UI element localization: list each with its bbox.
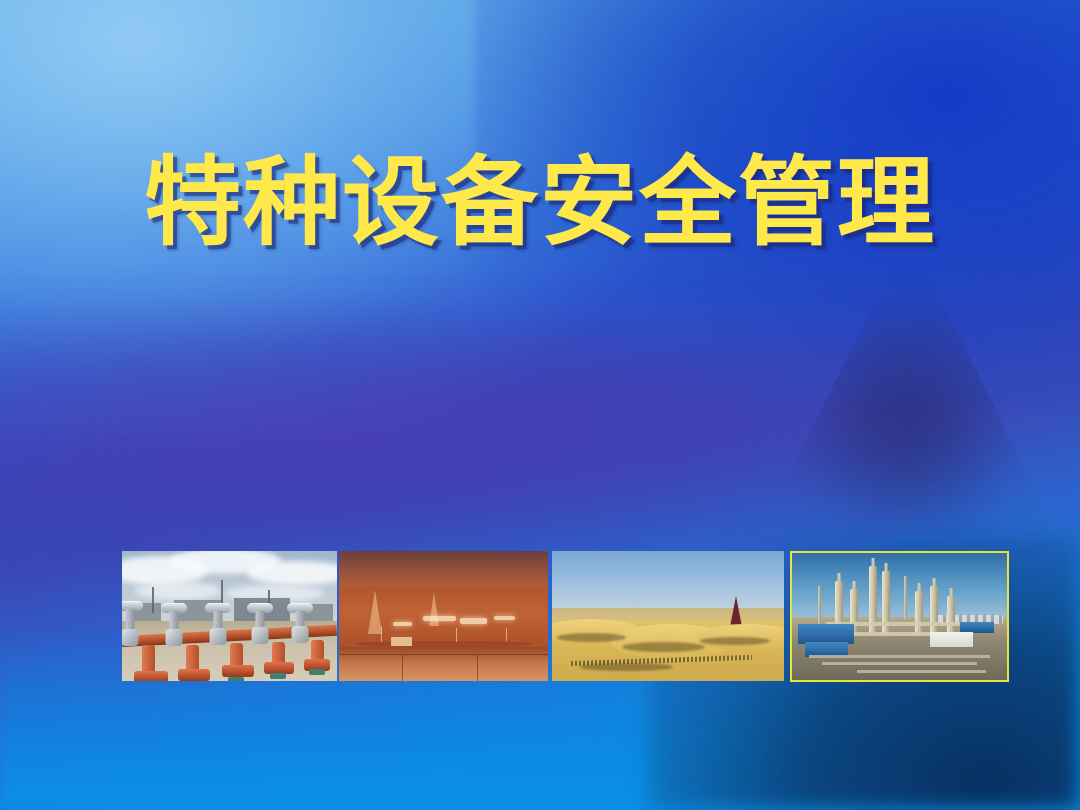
pipeline	[822, 662, 977, 665]
facility-lights	[423, 616, 456, 621]
title-block: 特种设备安全管理	[0, 152, 1080, 255]
roof-seam	[477, 655, 478, 681]
clear-sky	[792, 553, 1007, 619]
distillation-column	[915, 591, 923, 634]
facility-lights	[393, 622, 412, 626]
dune-shadow	[700, 637, 770, 645]
facility-lights	[460, 618, 487, 624]
photo-refinery-plant[interactable]	[790, 551, 1009, 682]
photo-strip	[122, 551, 1008, 682]
desert-sky	[552, 551, 784, 613]
distillation-column	[930, 586, 938, 634]
flare-stack	[818, 586, 821, 624]
photo-4-canvas	[792, 553, 1007, 680]
roof-seam	[402, 655, 403, 681]
flare-stack	[904, 576, 907, 619]
roof-seam	[339, 654, 548, 655]
tower	[152, 587, 154, 613]
photo-desert-drilling-rig[interactable]	[552, 551, 784, 681]
sunset-sky	[339, 551, 548, 590]
photo-oilfield-sunset[interactable]	[339, 551, 548, 681]
dune-shadow	[557, 633, 627, 642]
control-building	[930, 632, 973, 647]
derrick-tower	[429, 592, 439, 626]
site-shed	[391, 637, 412, 646]
photo-3-canvas	[552, 551, 784, 681]
light-pole	[381, 626, 382, 642]
photo-gas-wellhead-valves[interactable]	[122, 551, 337, 681]
photo-1-canvas	[122, 551, 337, 681]
pipeline	[809, 655, 990, 658]
light-pole	[506, 628, 507, 641]
facility-lights	[494, 616, 515, 620]
photo-2-canvas	[339, 551, 548, 681]
light-pole	[456, 628, 457, 642]
cloud	[247, 561, 337, 584]
pipeline	[857, 670, 986, 673]
foreground-tank-roof	[339, 647, 548, 681]
slide-title: 特种设备安全管理	[144, 152, 936, 255]
presentation-slide: 特种设备安全管理	[0, 0, 1080, 810]
distillation-column	[947, 596, 955, 634]
